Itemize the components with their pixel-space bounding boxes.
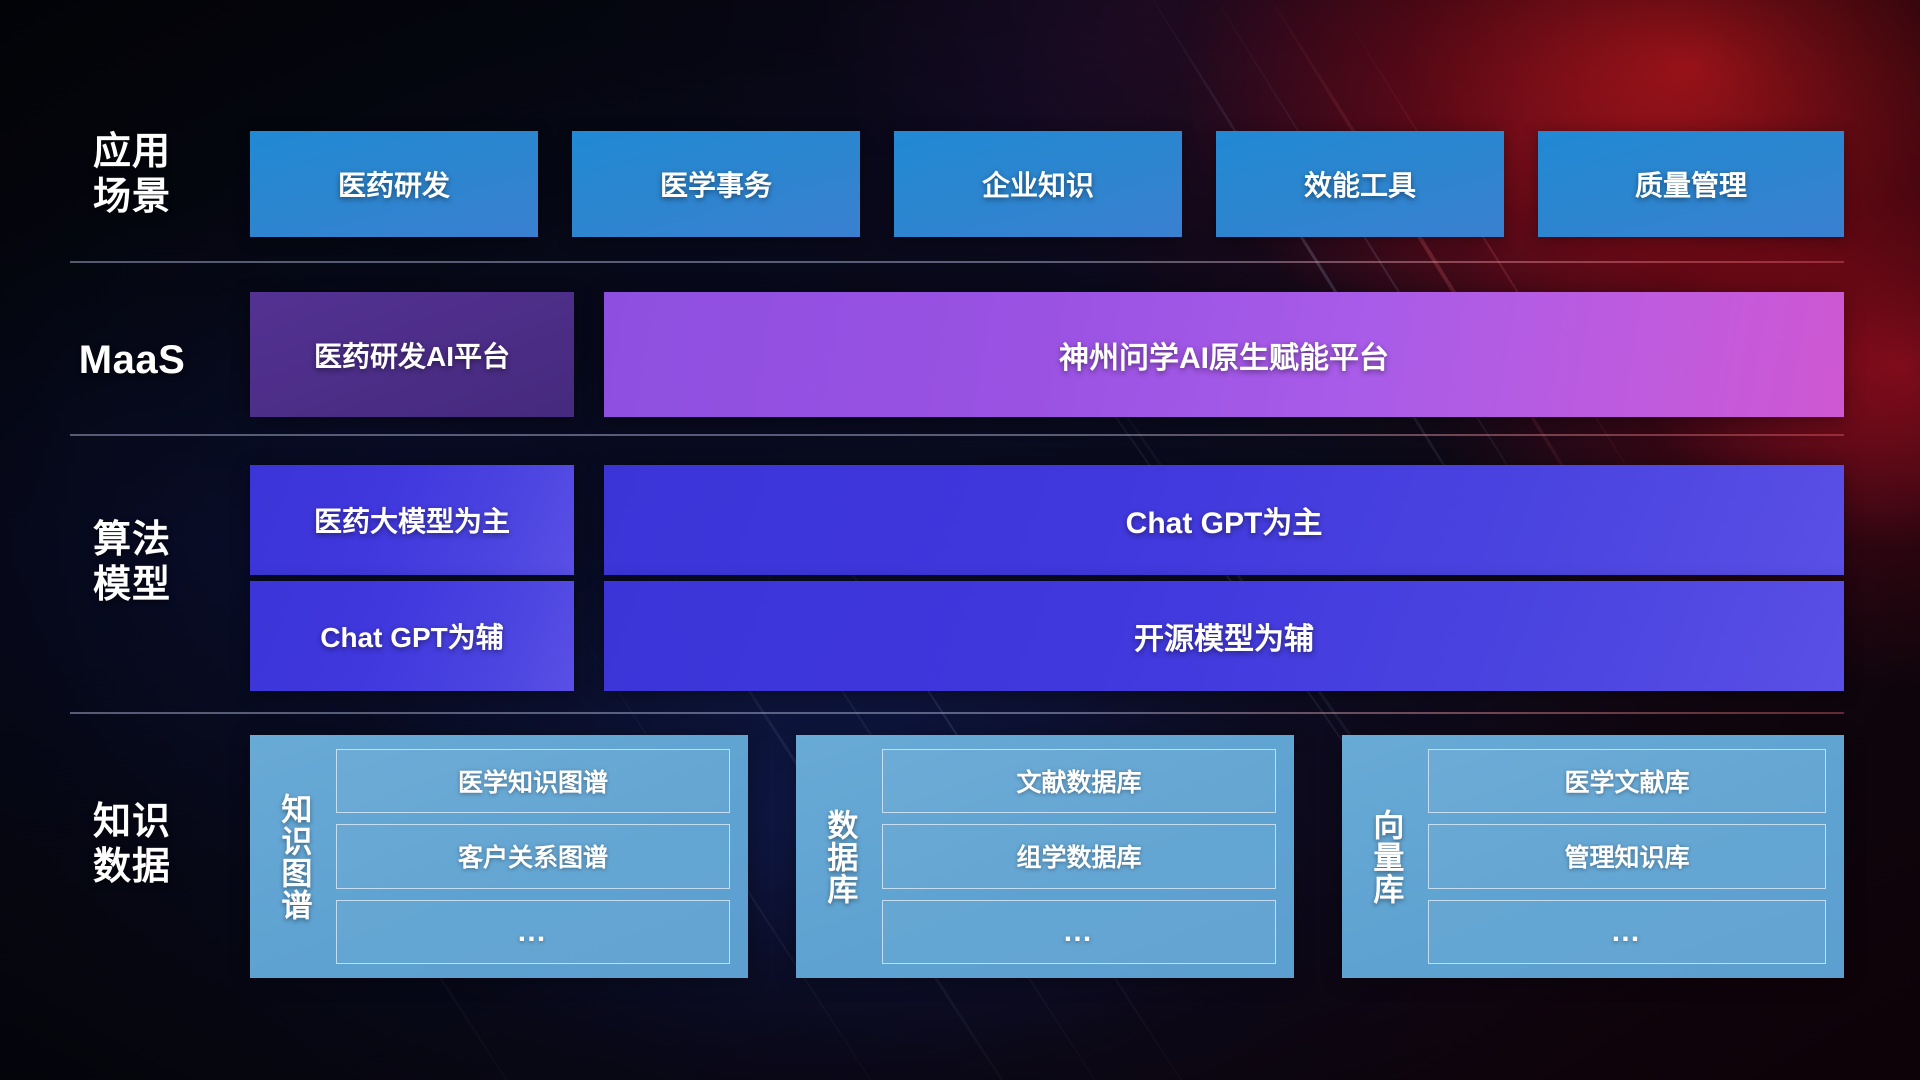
algo-tile-chatgpt-auxiliary[interactable]: Chat GPT为辅 — [250, 581, 574, 691]
architecture-diagram: 应用场景 医药研发 医学事务 企业知识 效能工具 质量管理 MaaS 医药研发A… — [0, 0, 1920, 1080]
knowledge-item-medical-knowledge-graph[interactable]: 医学知识图谱 — [336, 749, 730, 813]
knowledge-item-management-knowledge-store[interactable]: 管理知识库 — [1428, 824, 1826, 888]
knowledge-group-items: 医学知识图谱 客户关系图谱 … — [336, 735, 748, 978]
row-divider — [70, 712, 1844, 714]
algo-tile-opensource-model-auxiliary[interactable]: 开源模型为辅 — [604, 581, 1844, 691]
knowledge-group-knowledge-graph[interactable]: 知识图谱 医学知识图谱 客户关系图谱 … — [250, 735, 748, 978]
knowledge-item-more[interactable]: … — [882, 900, 1276, 964]
maas-tile-medicine-rd-ai-platform[interactable]: 医药研发AI平台 — [250, 292, 574, 417]
knowledge-item-omics-database[interactable]: 组学数据库 — [882, 824, 1276, 888]
knowledge-group-title: 知识图谱 — [250, 735, 336, 978]
knowledge-group-title: 向量库 — [1342, 735, 1428, 978]
row-label-maas: MaaS — [70, 337, 194, 384]
algo-tile-medicine-large-model-primary[interactable]: 医药大模型为主 — [250, 465, 574, 575]
knowledge-group-title: 数据库 — [796, 735, 882, 978]
knowledge-item-more[interactable]: … — [1428, 900, 1826, 964]
knowledge-group-items: 文献数据库 组学数据库 … — [882, 735, 1294, 978]
app-tile-medical-affairs[interactable]: 医学事务 — [572, 131, 860, 237]
knowledge-item-customer-relation-graph[interactable]: 客户关系图谱 — [336, 824, 730, 888]
knowledge-group-database[interactable]: 数据库 文献数据库 组学数据库 … — [796, 735, 1294, 978]
row-label-algorithm-model: 算法模型 — [70, 518, 194, 608]
app-tile-quality-management[interactable]: 质量管理 — [1538, 131, 1844, 237]
knowledge-group-vector-store[interactable]: 向量库 医学文献库 管理知识库 … — [1342, 735, 1844, 978]
knowledge-item-literature-database[interactable]: 文献数据库 — [882, 749, 1276, 813]
algo-tile-chatgpt-primary[interactable]: Chat GPT为主 — [604, 465, 1844, 575]
row-label-knowledge-data: 知识数据 — [70, 800, 194, 890]
knowledge-group-items: 医学文献库 管理知识库 … — [1428, 735, 1844, 978]
app-tile-efficiency-tools[interactable]: 效能工具 — [1216, 131, 1504, 237]
app-tile-medicine-rd[interactable]: 医药研发 — [250, 131, 538, 237]
knowledge-item-medical-literature-store[interactable]: 医学文献库 — [1428, 749, 1826, 813]
row-divider — [70, 434, 1844, 436]
knowledge-item-more[interactable]: … — [336, 900, 730, 964]
maas-tile-shenzhou-wenxue-platform[interactable]: 神州问学AI原生赋能平台 — [604, 292, 1844, 417]
row-label-application-scenarios: 应用场景 — [70, 130, 194, 220]
row-divider — [70, 261, 1844, 263]
app-tile-enterprise-knowledge[interactable]: 企业知识 — [894, 131, 1182, 237]
